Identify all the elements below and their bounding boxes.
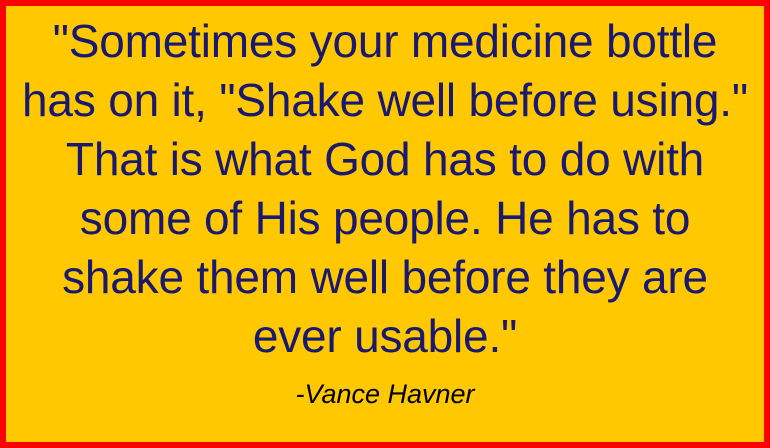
quote-line-1: "Sometimes your medicine bottle (14, 12, 756, 71)
quote-line-6: ever usable." (14, 307, 756, 366)
quote-line-4: some of His people. He has to (14, 189, 756, 248)
quote-line-3: That is what God has to do with (14, 130, 756, 189)
quote-line-2: has on it, "Shake well before using." (14, 71, 756, 130)
quote-line-5: shake them well before they are (14, 248, 756, 307)
quote-card: "Sometimes your medicine bottle has on i… (0, 0, 770, 448)
quote-attribution: -Vance Havner (6, 379, 764, 409)
quote-text-block: "Sometimes your medicine bottle has on i… (6, 12, 764, 366)
